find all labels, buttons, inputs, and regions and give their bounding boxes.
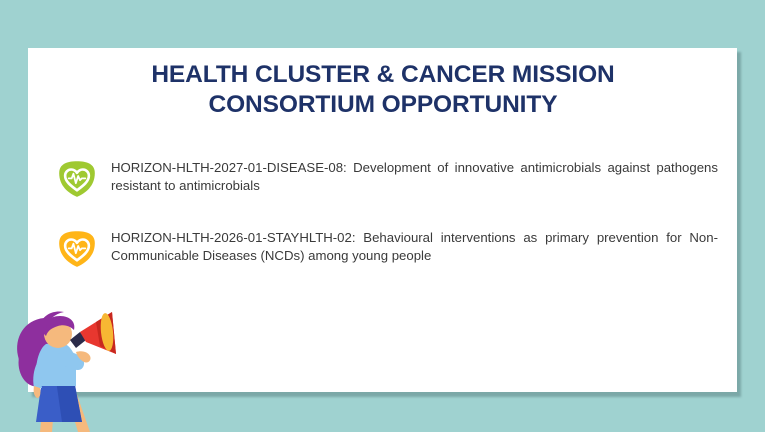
bullet-text: HORIZON-HLTH-2026-01-STAYHLTH-02: Behavi… (111, 228, 718, 264)
page-title-line-1: HEALTH CLUSTER & CANCER MISSION (86, 60, 680, 90)
bullet-item: HORIZON-HLTH-2026-01-STAYHLTH-02: Behavi… (58, 228, 718, 268)
page-title: HEALTH CLUSTER & CANCER MISSION CONSORTI… (86, 60, 680, 120)
bullet-item: HORIZON-HLTH-2027-01-DISEASE-08: Develop… (58, 158, 718, 198)
page-title-line-2: CONSORTIUM OPPORTUNITY (86, 90, 680, 120)
heart-pulse-icon (58, 230, 96, 268)
bullet-text: HORIZON-HLTH-2027-01-DISEASE-08: Develop… (111, 158, 718, 194)
content-card: HEALTH CLUSTER & CANCER MISSION CONSORTI… (28, 48, 737, 392)
woman-with-megaphone-illustration (0, 296, 118, 432)
slide-canvas: HEALTH CLUSTER & CANCER MISSION CONSORTI… (0, 0, 765, 432)
heart-pulse-icon (58, 160, 96, 198)
